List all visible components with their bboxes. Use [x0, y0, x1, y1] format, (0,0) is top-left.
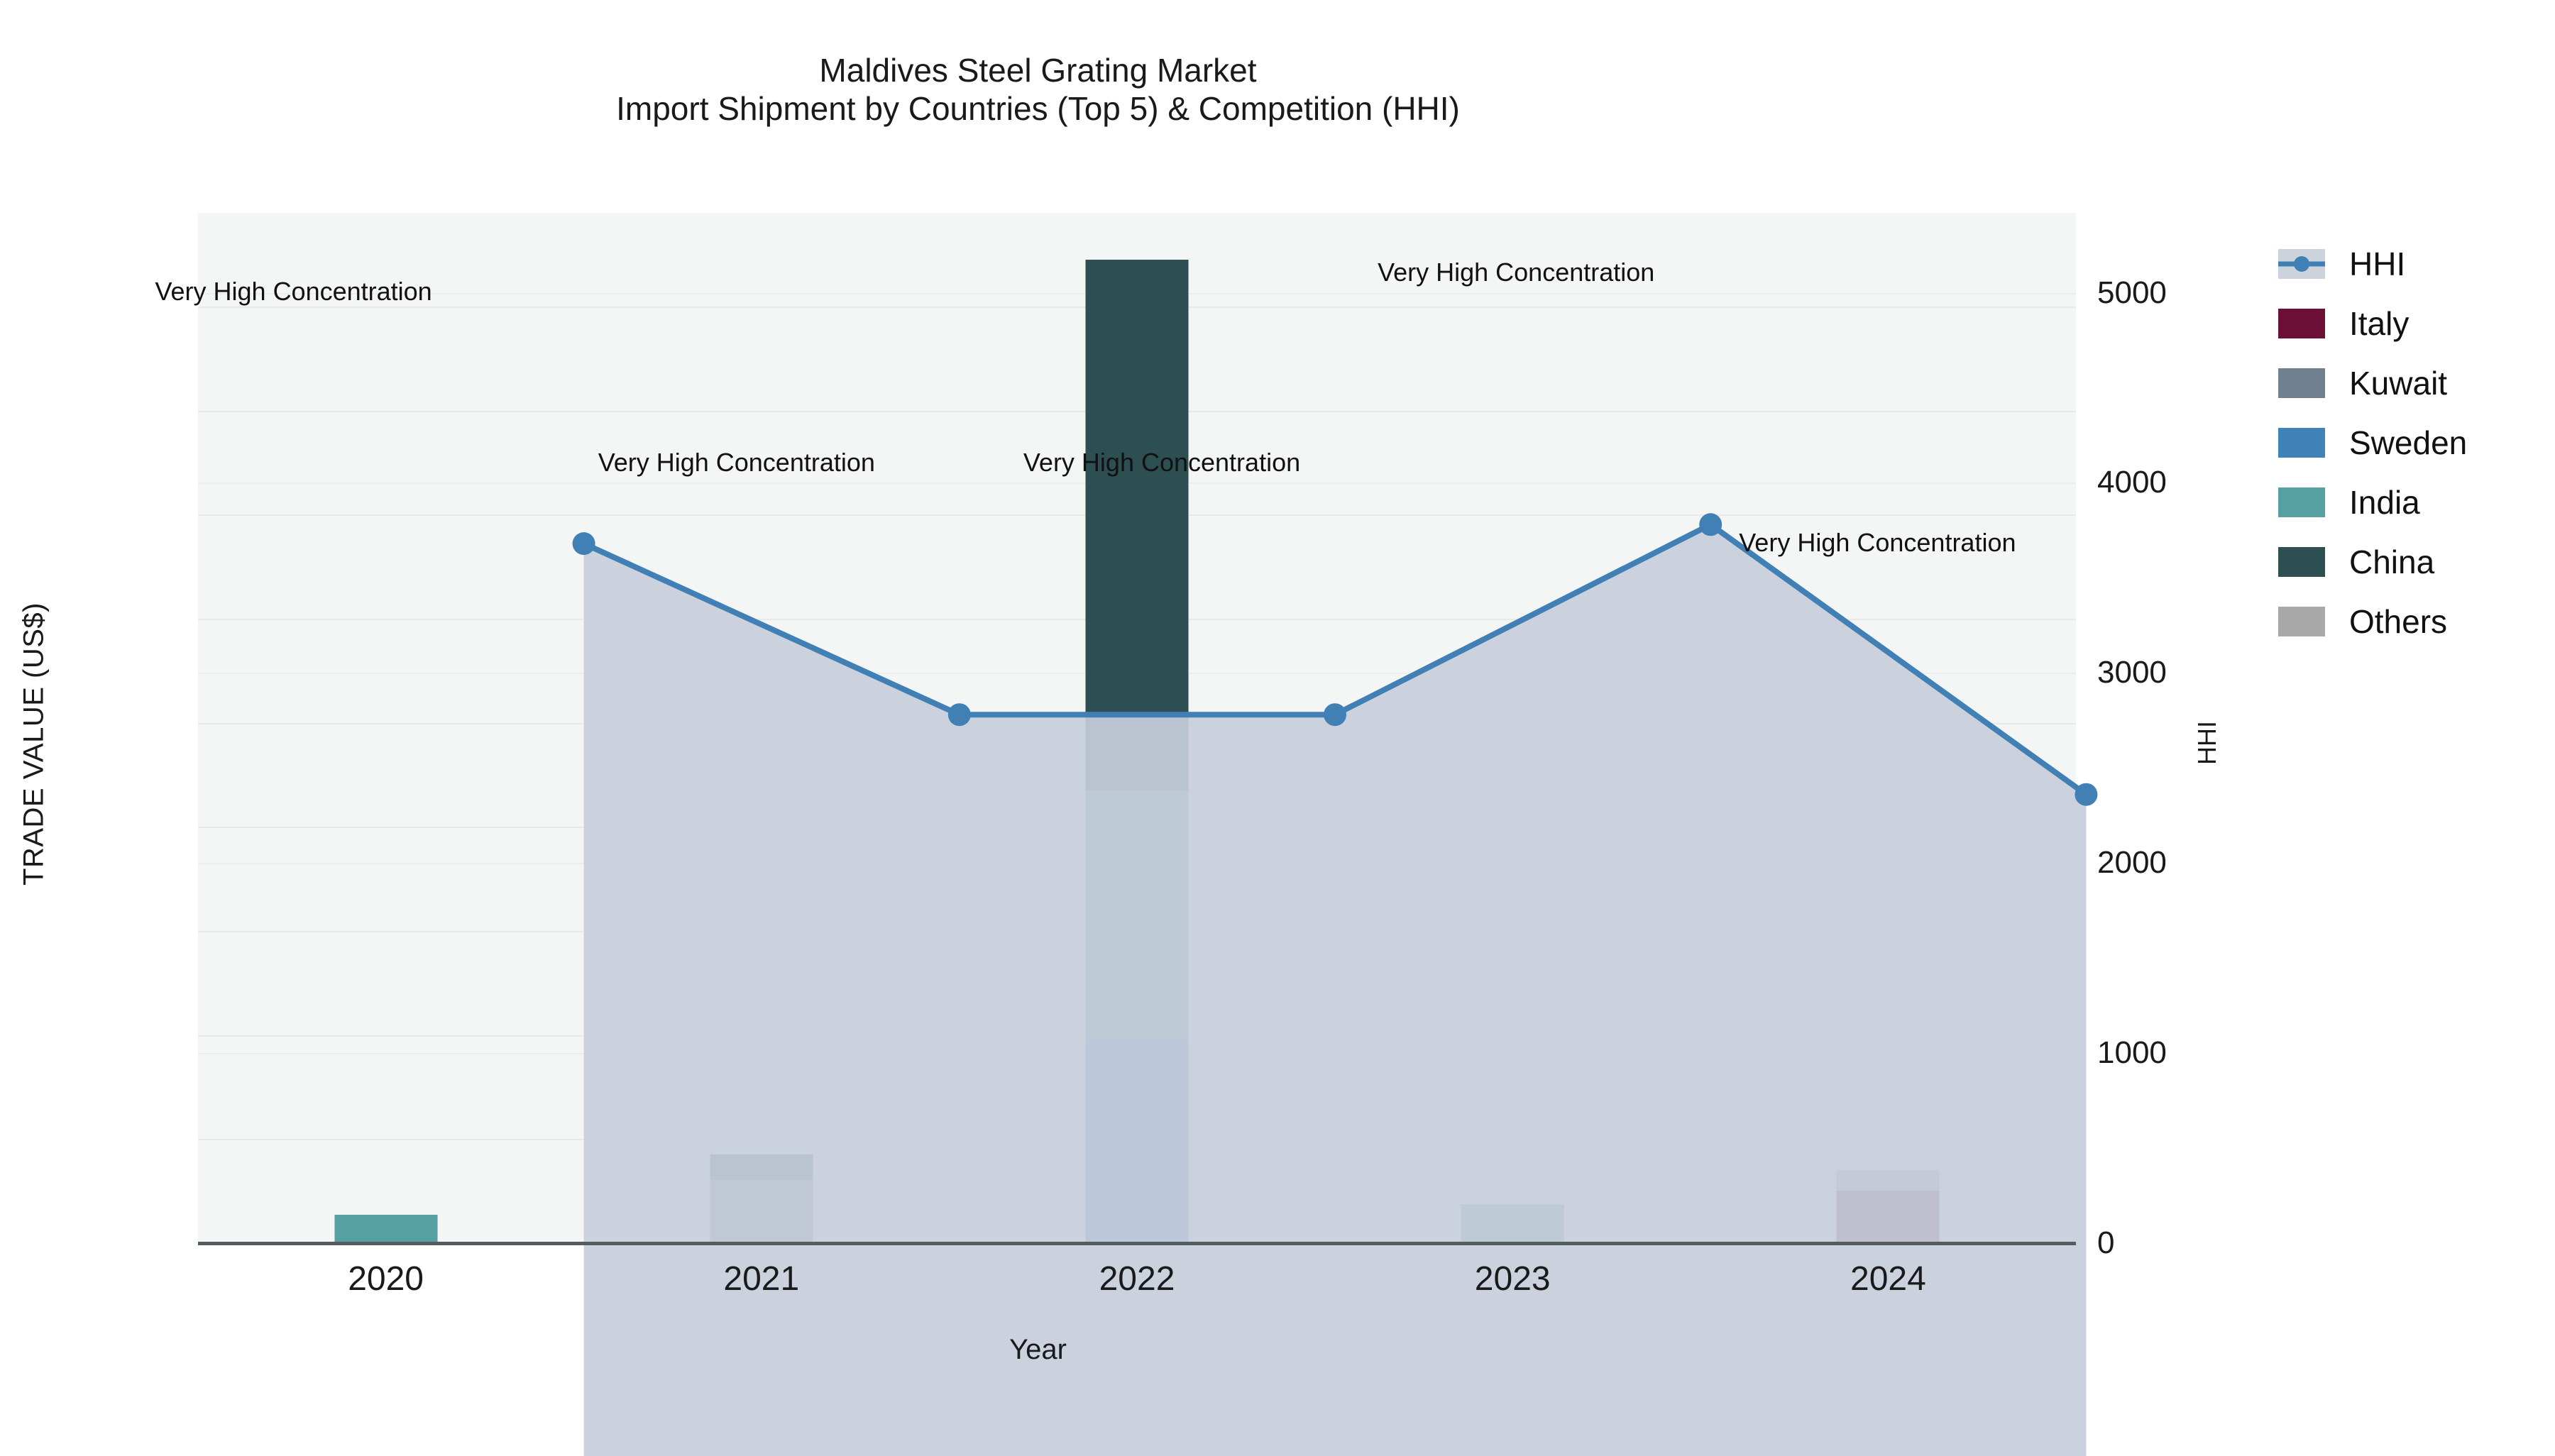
hhi-data-point[interactable] [2075, 783, 2097, 806]
chart-legend: HHIItalyKuwaitSwedenIndiaChinaOthers [2278, 234, 2555, 651]
legend-item-sweden[interactable]: Sweden [2278, 413, 2555, 473]
bar-stack[interactable] [1461, 213, 1564, 1243]
legend-color-swatch-icon [2278, 607, 2325, 636]
x-axis-tick-label: 2023 [1370, 1259, 1654, 1298]
legend-color-swatch-icon [2278, 309, 2325, 338]
legend-item-kuwait[interactable]: Kuwait [2278, 353, 2555, 413]
legend-color-swatch-icon [2278, 428, 2325, 458]
bar-segment-italy[interactable] [1837, 1191, 1940, 1243]
hhi-line-series [396, 426, 2274, 1456]
legend-item-others[interactable]: Others [2278, 592, 2555, 651]
y-axis-left-title: TRADE VALUE (US$) [18, 390, 50, 1099]
legend-color-swatch-icon [2278, 368, 2325, 398]
x-axis-tick-label: 2020 [244, 1259, 528, 1298]
legend-item-hhi[interactable]: HHI [2278, 234, 2555, 294]
legend-color-swatch-icon [2278, 487, 2325, 517]
bar-segment-kuwait[interactable] [710, 1180, 813, 1243]
bar-segment-sweden[interactable] [1086, 1040, 1189, 1243]
legend-item-label: Kuwait [2349, 364, 2447, 402]
bar-segment-china[interactable] [1086, 260, 1189, 790]
legend-item-italy[interactable]: Italy [2278, 294, 2555, 353]
hhi-data-point[interactable] [1699, 513, 1722, 536]
bar-segment-india[interactable] [1461, 1204, 1564, 1243]
concentration-annotation: Very High Concentration [1739, 528, 2016, 558]
bar-stack[interactable] [1086, 213, 1189, 1243]
legend-item-label: India [2349, 483, 2420, 522]
hhi-data-point[interactable] [573, 532, 595, 555]
legend-color-swatch-icon [2278, 547, 2325, 577]
legend-item-india[interactable]: India [2278, 473, 2555, 532]
concentration-annotation: Very High Concentration [155, 277, 432, 307]
legend-item-label: HHI [2349, 245, 2405, 283]
x-axis-tick-label: 2024 [1746, 1259, 2030, 1298]
legend-item-label: Others [2349, 602, 2447, 641]
bar-stack[interactable] [1837, 213, 1940, 1243]
legend-item-label: Italy [2349, 304, 2409, 343]
chart-title: Maldives Steel Grating Market Import Shi… [0, 51, 2076, 128]
concentration-annotation: Very High Concentration [598, 448, 875, 478]
x-axis-tick-label: 2021 [620, 1259, 903, 1298]
bar-segment-china[interactable] [710, 1154, 813, 1180]
y-axis-right-tick-label: 1000 [2097, 1035, 2310, 1071]
concentration-annotation: Very High Concentration [1378, 258, 1654, 287]
x-axis-title: Year [0, 1334, 2076, 1366]
bar-stack[interactable] [334, 213, 437, 1243]
plot-area: Very High ConcentrationVery High Concent… [198, 213, 2076, 1243]
x-axis-line [198, 1242, 2076, 1245]
legend-item-china[interactable]: China [2278, 532, 2555, 592]
legend-line-swatch-icon [2278, 249, 2325, 279]
bar-segment-india[interactable] [334, 1215, 437, 1242]
legend-item-label: China [2349, 543, 2434, 581]
y-axis-right-title: HHI [2192, 530, 2222, 956]
chart-title-main: Maldives Steel Grating Market [0, 51, 2076, 89]
bar-segment-others[interactable] [1837, 1170, 1940, 1191]
x-axis-tick-label: 2022 [995, 1259, 1279, 1298]
concentration-annotation: Very High Concentration [1023, 448, 1300, 478]
bar-segment-india[interactable] [1086, 790, 1189, 1040]
chart-title-sub: Import Shipment by Countries (Top 5) & C… [0, 89, 2076, 128]
legend-item-label: Sweden [2349, 424, 2467, 462]
y-axis-right-tick-label: 0 [2097, 1225, 2310, 1261]
bar-stack[interactable] [710, 213, 813, 1243]
